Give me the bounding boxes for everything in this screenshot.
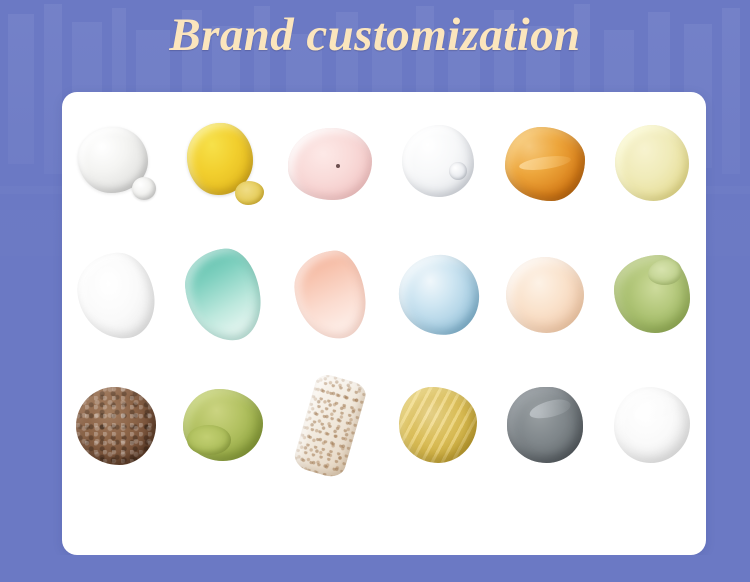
white-cream-swirl-icon: [614, 387, 690, 463]
swatch-cell-green-cream-swirl[interactable]: [599, 232, 706, 362]
swatch-card: ◆◆◆ Scent Customization/Texture Customiz…: [62, 92, 706, 555]
swatch-grid: [62, 102, 706, 492]
swatch-cell-clear-serum-droplet[interactable]: [62, 102, 169, 232]
nude-beige-cream-icon: [506, 257, 584, 333]
clear-serum-droplet-small-icon: [132, 177, 156, 200]
pale-yellow-bubble-gel-icon: [615, 125, 689, 201]
yellow-oil-drop-small-icon: [235, 181, 264, 205]
green-cream-swirl-icon: [614, 255, 690, 333]
swatch-cell-olive-clay-mask[interactable]: [169, 362, 276, 492]
swatch-cell-peach-gel-smear[interactable]: [277, 232, 384, 362]
olive-clay-mask-icon: [183, 389, 263, 461]
swatch-cell-mint-green-gel-smear[interactable]: [169, 232, 276, 362]
grey-clay-mask-icon: [507, 387, 583, 463]
swatch-cell-pink-gel-blob[interactable]: [277, 102, 384, 232]
golden-mask-swipe-icon: [399, 387, 477, 463]
swatch-cell-amber-honey-gel[interactable]: [491, 102, 598, 232]
swatch-cell-white-cream-swirl[interactable]: [599, 362, 706, 492]
swatch-cell-exfoliating-sugar-scrub[interactable]: [277, 362, 384, 492]
page-title: Brand customization: [0, 8, 750, 62]
swatch-cell-pale-yellow-bubble-gel[interactable]: [599, 102, 706, 232]
clear-gel-smear-icon: [73, 249, 158, 342]
pink-gel-blob-icon: [288, 128, 372, 200]
clear-bubble-gel-icon: [402, 125, 474, 197]
swatch-cell-grey-clay-mask[interactable]: [491, 362, 598, 492]
swatch-cell-golden-mask-swipe[interactable]: [384, 362, 491, 492]
swatch-cell-clear-bubble-gel[interactable]: [384, 102, 491, 232]
mint-green-gel-smear-icon: [182, 246, 264, 344]
bottom-strip: [0, 555, 750, 582]
exfoliating-sugar-scrub-icon: [292, 372, 369, 481]
amber-honey-gel-icon: [505, 127, 585, 201]
swatch-cell-clear-gel-smear[interactable]: [62, 232, 169, 362]
brand-customization-banner: Brand customization: [0, 0, 750, 582]
brown-coffee-scrub-icon: [76, 387, 156, 465]
swatch-cell-brown-coffee-scrub[interactable]: [62, 362, 169, 492]
light-blue-cream-icon: [397, 253, 481, 337]
swatch-cell-nude-beige-cream[interactable]: [491, 232, 598, 362]
swatch-cell-light-blue-cream[interactable]: [384, 232, 491, 362]
peach-gel-smear-icon: [292, 249, 368, 342]
swatch-cell-yellow-oil-drop[interactable]: [169, 102, 276, 232]
